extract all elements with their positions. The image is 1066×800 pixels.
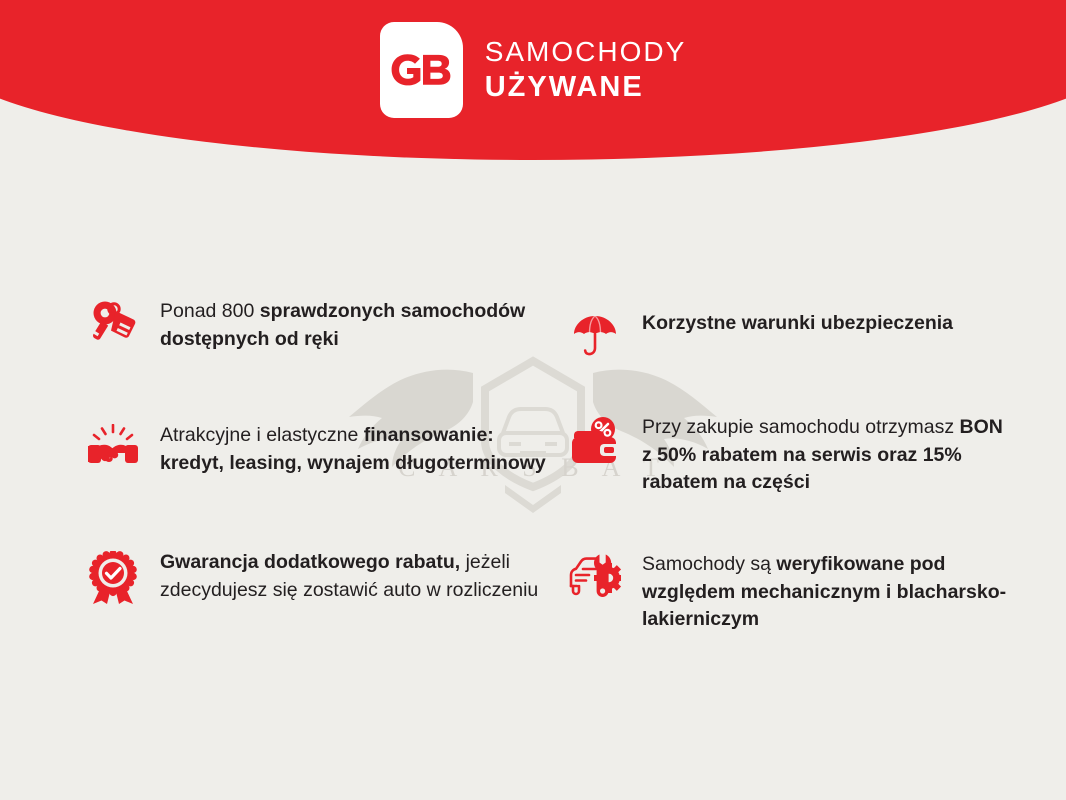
- brand-text: SAMOCHODY UŻYWANE: [485, 38, 687, 102]
- feature-financing: Atrakcyjne i elastyczne finansowanie: kr…: [84, 420, 566, 497]
- brand-line-1: SAMOCHODY: [485, 38, 687, 66]
- feature-text: Gwarancja dodatkowego rabatu, jeżeli zde…: [160, 547, 560, 604]
- feature-text-part: Samochody są: [642, 553, 776, 575]
- car-keys-icon: [84, 296, 142, 362]
- brand-line-2: UŻYWANE: [485, 73, 687, 102]
- feature-text-part: Ponad 800: [160, 300, 260, 322]
- feature-text: Samochody są weryfikowane pod względem m…: [642, 549, 1007, 634]
- features-grid: Ponad 800 sprawdzonych samochodów dostęp…: [84, 296, 1014, 634]
- feature-text-part-bold: Gwarancja dodatkowego rabatu,: [160, 551, 466, 573]
- feature-text-part: Atrakcyjne i elastyczne: [160, 424, 364, 446]
- page-header: SAMOCHODY UŻYWANE: [0, 0, 1066, 165]
- feature-insurance: Korzystne warunki ubezpieczenia: [566, 308, 1014, 374]
- award-rosette-icon: [84, 547, 142, 613]
- feature-text: Atrakcyjne i elastyczne finansowanie: kr…: [160, 420, 560, 477]
- feature-text-part-bold: Korzystne warunki ubezpieczenia: [642, 312, 953, 334]
- logo-tile: [380, 22, 463, 118]
- car-service-wrench-icon: [566, 549, 624, 615]
- feature-vehicle-verification: Samochody są weryfikowane pod względem m…: [566, 549, 1014, 634]
- feature-text-part: Przy zakupie samochodu otrzymasz: [642, 416, 960, 438]
- feature-stock-availability: Ponad 800 sprawdzonych samochodów dostęp…: [84, 296, 566, 374]
- feature-text: Przy zakupie samochodu otrzymasz BON z 5…: [642, 412, 1007, 497]
- gb-monogram-icon: [390, 53, 452, 87]
- feature-service-voucher: Przy zakupie samochodu otrzymasz BON z 5…: [566, 412, 1014, 497]
- feature-trade-in-discount: Gwarancja dodatkowego rabatu, jeżeli zde…: [84, 547, 566, 634]
- wallet-discount-icon: [566, 412, 624, 478]
- umbrella-icon: [566, 308, 624, 374]
- feature-text: Korzystne warunki ubezpieczenia: [642, 308, 953, 338]
- handshake-icon: [84, 420, 142, 486]
- brand-lockup: SAMOCHODY UŻYWANE: [0, 0, 1066, 140]
- feature-text: Ponad 800 sprawdzonych samochodów dostęp…: [160, 296, 560, 353]
